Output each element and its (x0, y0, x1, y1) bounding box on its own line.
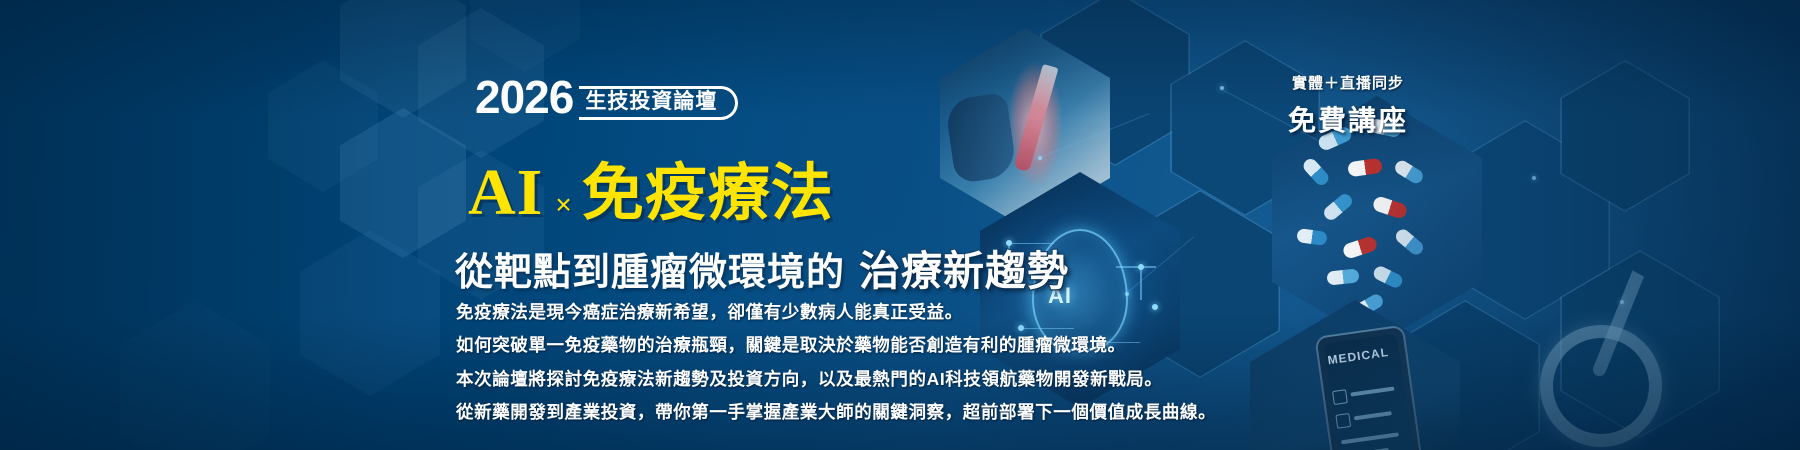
headline-ai: AI (468, 155, 543, 231)
forum-year: 2026 (475, 76, 573, 120)
headline-main: 免疫療法 (582, 142, 834, 232)
main-headline: AI × 免疫療法 (468, 142, 834, 232)
free-seminar-badge: 實體＋直播同步 免費講座 (1258, 72, 1438, 139)
sub-headline-plain: 從靶點到腫瘤微環境的 (455, 241, 845, 296)
banner-content: 2026 生技投資論壇 AI × 免疫療法 從靶點到腫瘤微環境的 治療新趨勢 免… (0, 0, 1800, 450)
badge-subtitle: 實體＋直播同步 (1258, 72, 1438, 93)
description-line: 如何突破單一免疫藥物的治療瓶頸，關鍵是取決於藥物能否創造有利的腫瘤微環境。 (456, 333, 1216, 358)
sub-headline: 從靶點到腫瘤微環境的 治療新趨勢 (455, 237, 1069, 297)
headline-cross-icon: × (555, 189, 571, 221)
badge-title: 免費講座 (1258, 99, 1438, 139)
forum-label: 生技投資論壇 (583, 90, 719, 114)
description-line: 從新藥開發到產業投資，帶你第一手掌握產業大師的關鍵洞察，超前部署下一個價值成長曲… (456, 400, 1216, 425)
event-promo-banner: AI MEDICAL (0, 0, 1800, 450)
description-block: 免疫療法是現今癌症治療新希望，卻僅有少數病人能真正受益。 如何突破單一免疫藥物的… (456, 300, 1216, 426)
forum-logo: 2026 生技投資論壇 (475, 76, 738, 120)
description-line: 免疫療法是現今癌症治療新希望，卻僅有少數病人能真正受益。 (456, 300, 1216, 325)
forum-label-pill: 生技投資論壇 (579, 86, 738, 120)
description-line: 本次論壇將探討免疫療法新趨勢及投資方向，以及最熱門的AI科技領航藥物開發新戰局。 (456, 367, 1216, 392)
sub-headline-emphasis: 治療新趨勢 (859, 237, 1069, 297)
